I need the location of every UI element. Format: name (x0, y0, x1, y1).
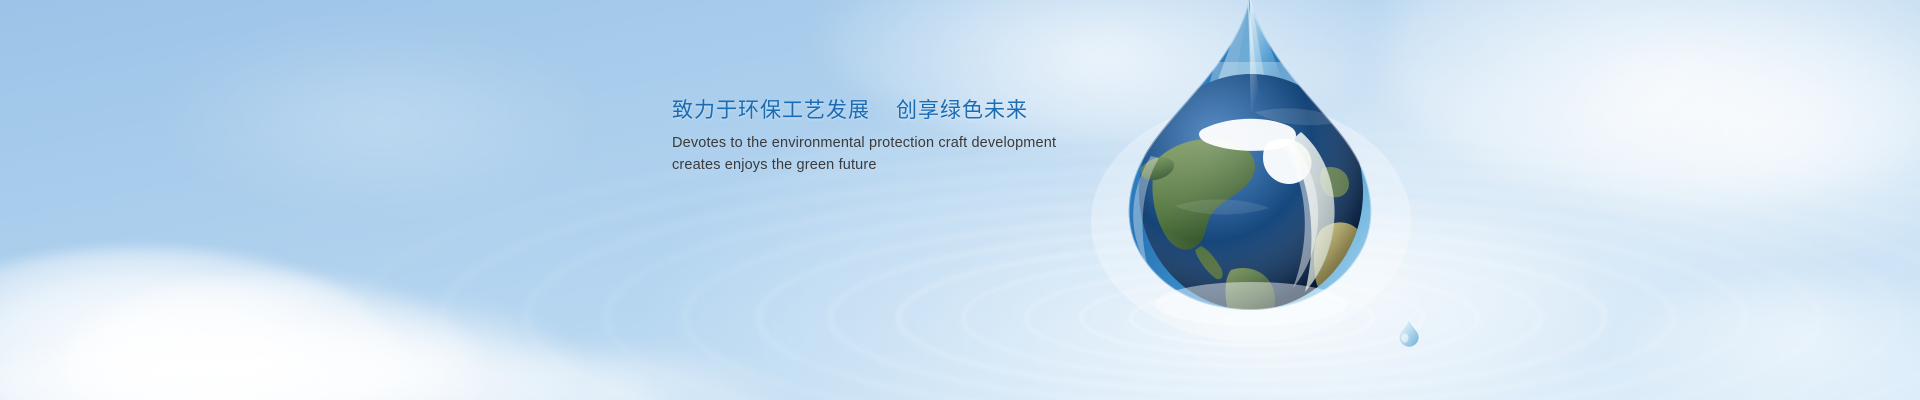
cloud-mid-left (170, 30, 590, 210)
cloud-bottom-right (1620, 280, 1920, 400)
cloud-bottom-left-1 (0, 248, 400, 400)
headline-part-2: 创享绿色未来 (896, 99, 1028, 122)
cloud-bottom-center (430, 350, 790, 400)
cloud-top-right (1380, 0, 1920, 200)
subtitle-line-2: creates enjoys the green future (672, 154, 1232, 176)
cloud-bottom-left-3 (250, 300, 580, 400)
subtitle-line-1: Devotes to the environmental protection … (672, 132, 1232, 154)
eco-banner: 致力于环保工艺发展创享绿色未来 Devotes to the environme… (0, 0, 1920, 400)
small-water-droplet (1396, 318, 1422, 348)
cloud-layer (0, 0, 1920, 400)
headline-part-1: 致力于环保工艺发展 (672, 99, 870, 122)
cloud-bottom-left-4 (0, 330, 660, 400)
page-title: 致力于环保工艺发展创享绿色未来 (672, 96, 1232, 126)
cloud-right (1560, 20, 1920, 250)
banner-copy: 致力于环保工艺发展创享绿色未来 Devotes to the environme… (672, 96, 1232, 176)
cloud-bottom-left-2 (60, 276, 480, 400)
